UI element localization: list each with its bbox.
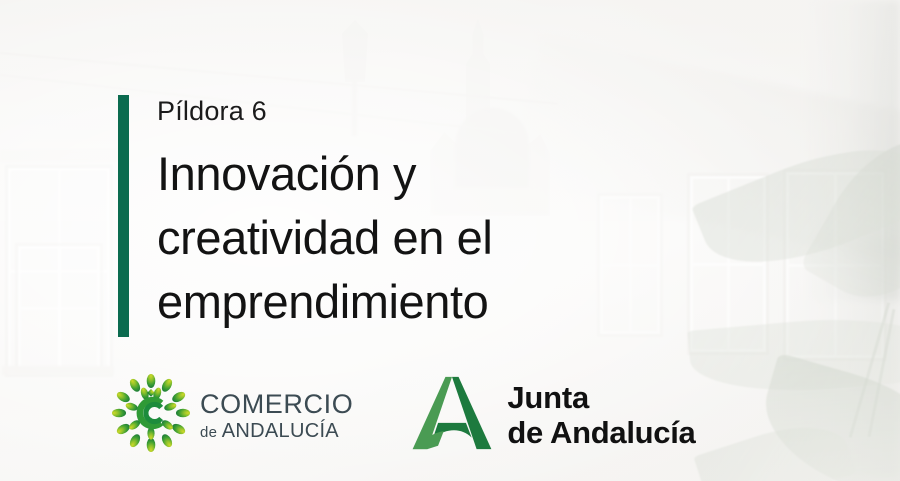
page-title: Innovación y creatividad en el emprendim… (157, 142, 627, 334)
junta-wordmark-line-1: Junta (507, 381, 695, 416)
comercio-leaf-roundel-icon (112, 374, 190, 457)
slide-canvas: Píldora 6 Innovación y creatividad en el… (0, 0, 900, 481)
page-title-line-3: emprendimiento (157, 270, 627, 334)
comercio-wordmark-andalucia: ANDALUCÍA (222, 420, 339, 442)
green-accent-bar (118, 95, 129, 337)
logo-comercio-de-andalucia: COMERCIO de ANDALUCÍA (112, 374, 353, 457)
slide-content: Píldora 6 Innovación y creatividad en el… (0, 0, 900, 481)
logo-junta-de-andalucia: Junta de Andalucía (411, 372, 695, 459)
page-title-line-2: creatividad en el (157, 206, 627, 270)
comercio-wordmark-line-1: COMERCIO (200, 391, 353, 418)
comercio-wordmark-de: de (200, 424, 222, 441)
eyebrow-label: Píldora 6 (157, 96, 267, 127)
junta-wordmark: Junta de Andalucía (507, 381, 695, 450)
logo-row: COMERCIO de ANDALUCÍA (112, 372, 696, 459)
junta-andalucia-a-icon (411, 372, 493, 459)
comercio-wordmark: COMERCIO de ANDALUCÍA (200, 391, 353, 441)
junta-wordmark-line-2: de Andalucía (507, 416, 695, 451)
page-title-line-1: Innovación y (157, 142, 627, 206)
comercio-wordmark-line-2: de ANDALUCÍA (200, 421, 353, 441)
